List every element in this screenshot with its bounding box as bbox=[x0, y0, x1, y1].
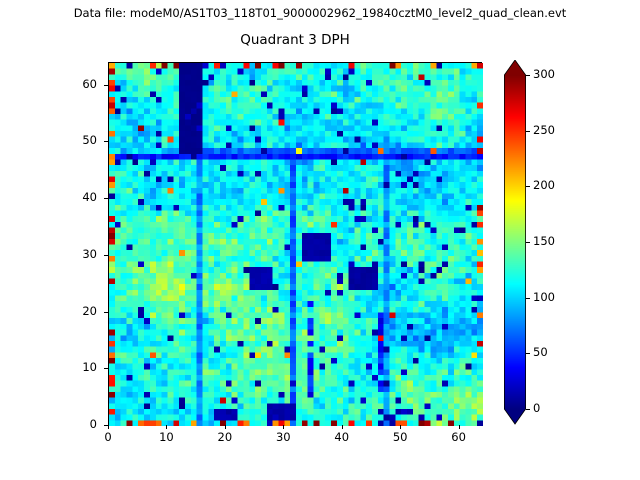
x-tick-mark bbox=[459, 425, 460, 429]
y-tick-label: 50 bbox=[57, 134, 97, 147]
y-tick-mark bbox=[104, 368, 108, 369]
detector-heatmap-image[interactable] bbox=[109, 63, 483, 426]
y-tick-mark bbox=[104, 85, 108, 86]
x-tick-mark bbox=[342, 425, 343, 429]
y-tick-label: 30 bbox=[57, 248, 97, 261]
y-tick-label: 0 bbox=[57, 418, 97, 431]
x-tick-label: 30 bbox=[263, 431, 303, 444]
x-tick-label: 20 bbox=[205, 431, 245, 444]
colorbar-tick-mark bbox=[526, 298, 530, 299]
colorbar-tick-label: 0 bbox=[533, 402, 540, 415]
y-tick-label: 20 bbox=[57, 305, 97, 318]
colorbar-tick-label: 200 bbox=[533, 179, 555, 192]
y-tick-label: 10 bbox=[57, 361, 97, 374]
x-tick-label: 40 bbox=[322, 431, 362, 444]
colorbar[interactable] bbox=[504, 60, 526, 434]
x-tick-mark bbox=[400, 425, 401, 429]
data-file-suptitle: Data file: modeM0/AS1T03_118T01_90000029… bbox=[0, 6, 640, 20]
x-tick-label: 60 bbox=[439, 431, 479, 444]
colorbar-tick-mark bbox=[526, 353, 530, 354]
y-tick-mark bbox=[104, 141, 108, 142]
x-tick-mark bbox=[108, 425, 109, 429]
y-tick-mark bbox=[104, 312, 108, 313]
colorbar-tick-mark bbox=[526, 186, 530, 187]
x-tick-label: 10 bbox=[146, 431, 186, 444]
colorbar-tick-mark bbox=[526, 131, 530, 132]
colorbar-tick-mark bbox=[526, 409, 530, 410]
colorbar-gradient[interactable] bbox=[504, 60, 526, 434]
x-tick-label: 50 bbox=[380, 431, 420, 444]
y-tick-mark bbox=[104, 198, 108, 199]
colorbar-tick-label: 300 bbox=[533, 68, 555, 81]
y-tick-label: 40 bbox=[57, 191, 97, 204]
x-tick-label: 0 bbox=[88, 431, 128, 444]
y-tick-mark bbox=[104, 425, 108, 426]
colorbar-tick-label: 150 bbox=[533, 235, 555, 248]
colorbar-tick-mark bbox=[526, 242, 530, 243]
y-tick-mark bbox=[104, 255, 108, 256]
x-tick-mark bbox=[283, 425, 284, 429]
colorbar-tick-label: 250 bbox=[533, 124, 555, 137]
figure-canvas: Data file: modeM0/AS1T03_118T01_90000029… bbox=[0, 0, 640, 480]
colorbar-tick-mark bbox=[526, 75, 530, 76]
x-tick-mark bbox=[225, 425, 226, 429]
y-tick-label: 60 bbox=[57, 78, 97, 91]
colorbar-tick-label: 50 bbox=[533, 346, 548, 359]
page-title: Quadrant 3 DPH bbox=[108, 32, 482, 48]
heatmap-axes[interactable] bbox=[108, 62, 482, 425]
x-tick-mark bbox=[166, 425, 167, 429]
colorbar-tick-label: 100 bbox=[533, 291, 555, 304]
